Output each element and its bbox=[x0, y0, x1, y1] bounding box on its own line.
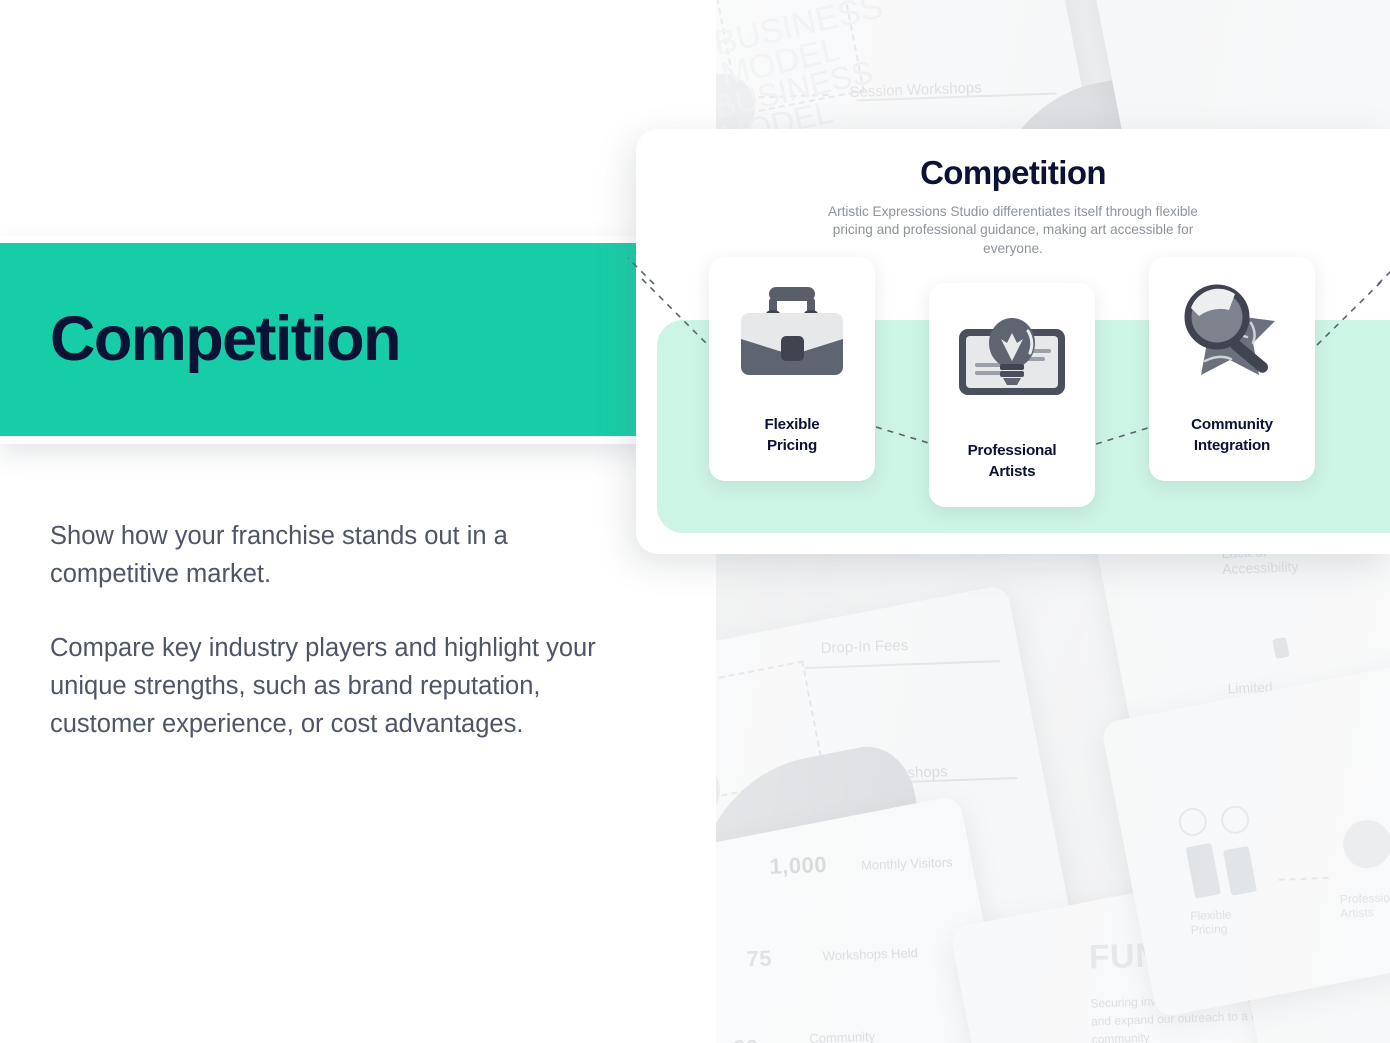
bglabel: Commissioned Art Sales bbox=[715, 920, 867, 943]
background-thumbnail: FUNDRAISING Securing investment to scale… bbox=[949, 839, 1390, 1043]
bgtitle: COMPETITION bbox=[1318, 799, 1390, 844]
bgicon-money bbox=[1186, 843, 1221, 899]
section-banner: Competition bbox=[0, 243, 636, 436]
bgtitle: FUNDRAISING bbox=[1088, 930, 1331, 977]
bgvalue: 1,000 bbox=[769, 852, 827, 880]
bgdash-box bbox=[715, 660, 826, 800]
bgvalue: 75 bbox=[746, 946, 772, 973]
background-thumbnail: Drop-In Fees Session Workshops Commissio… bbox=[715, 584, 1096, 1043]
bglabel: Workshops Held bbox=[822, 945, 918, 963]
description-paragraph-1: Show how your franchise stands out in a … bbox=[50, 518, 615, 594]
description-paragraph-2: Compare key industry players and highlig… bbox=[50, 630, 615, 744]
page-title: Competition bbox=[50, 308, 400, 371]
bglabel: Flexible Pricing bbox=[1190, 906, 1271, 937]
bgline bbox=[805, 660, 1000, 669]
bgtitle: BUSINESS MODEL bbox=[715, 0, 969, 92]
connector-dash-right bbox=[1317, 279, 1384, 345]
bgsubtitle: Artistic Expressions Studio differentiat… bbox=[1309, 860, 1390, 900]
bgicon-money bbox=[1223, 846, 1257, 896]
bglabel: Professional Artists bbox=[1340, 889, 1390, 920]
bglabel: Community Partnerships bbox=[809, 1028, 900, 1043]
bgicon-coin bbox=[1219, 803, 1252, 836]
bgdash bbox=[1279, 877, 1329, 881]
bgicon-gear bbox=[1339, 816, 1390, 872]
slide-preview-card[interactable]: Competition Artistic Expressions Studio … bbox=[636, 129, 1390, 554]
bglabel: Drop-In Fees bbox=[820, 637, 908, 657]
background-blob bbox=[715, 739, 961, 1043]
bglabel: Session Workshops bbox=[815, 763, 948, 785]
connector-dash-left bbox=[642, 279, 708, 345]
background-thumbnail: 1,000 Monthly Visitors 75 Workshops Held… bbox=[715, 795, 1024, 1043]
bgline bbox=[857, 92, 1057, 101]
connector-dash-2-3 bbox=[1096, 427, 1151, 444]
bglabel: Monthly Visitors bbox=[861, 855, 953, 873]
connector-dash-1-2 bbox=[876, 427, 932, 444]
bgdash-box bbox=[716, 0, 865, 116]
bgicon-dollar bbox=[715, 753, 725, 828]
bgsubtitle: Securing investment to scale our operati… bbox=[1090, 986, 1332, 1043]
slide-canvas: Drop-In Fees Session Workshops Commissio… bbox=[0, 0, 1390, 1043]
connector-lines bbox=[636, 129, 1390, 554]
bgline bbox=[822, 777, 1017, 786]
bgvalue: 20 bbox=[733, 1035, 759, 1043]
description-block: Show how your franchise stands out in a … bbox=[50, 518, 615, 744]
background-thumbnail: Flexible Pricing Professional Artists Co… bbox=[1100, 642, 1390, 1019]
bglabel: Limited Resources bbox=[1227, 676, 1338, 712]
background-thumbnail: COMPETITION Artistic Expressions Studio … bbox=[1210, 732, 1390, 1043]
bglabel: Session Workshops bbox=[849, 79, 982, 101]
bgicon-coin bbox=[1176, 806, 1209, 839]
bgdash bbox=[758, 94, 828, 98]
bgicon-hourglass bbox=[1272, 637, 1290, 659]
